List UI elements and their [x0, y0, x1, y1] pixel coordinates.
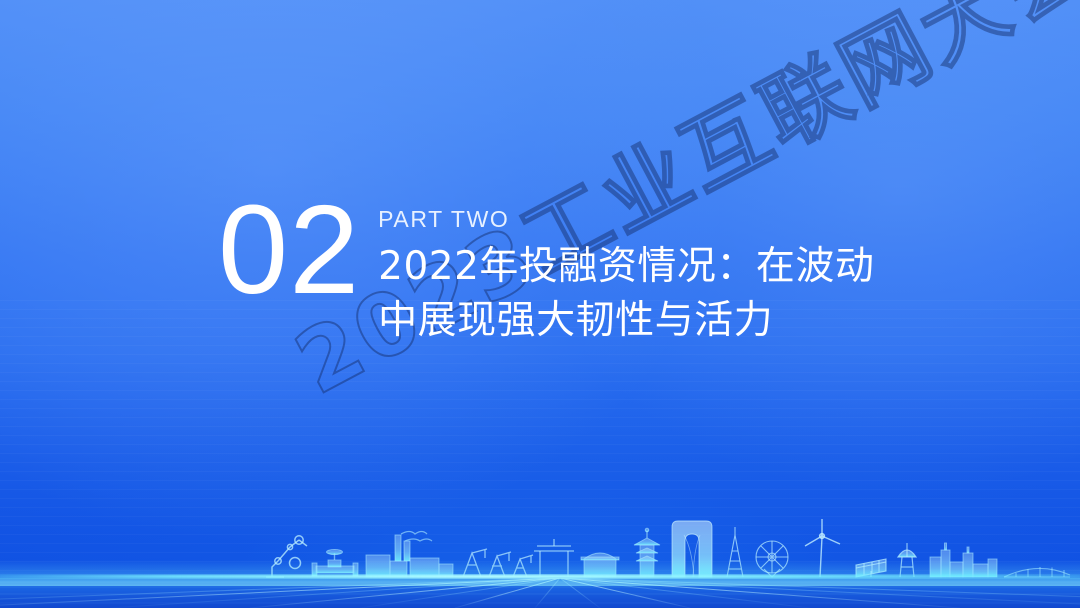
page-title-line-1: 2022年投融资情况：在波动	[378, 240, 874, 294]
perspective-ground-plane	[0, 578, 1080, 608]
lattice-tower-icon	[727, 527, 743, 577]
robotic-arm-icon	[266, 536, 307, 577]
title-group: PART TWO 2022年投融资情况：在波动 中展现强大韧性与活力	[378, 196, 874, 348]
presentation-slide: 2023工业互联网大会 02 PART TWO 2022年投融资情况：在波动 中…	[0, 0, 1080, 608]
wind-turbine-icon	[805, 519, 840, 577]
oil-pumpjacks-icon	[463, 549, 533, 577]
pipe-valve-icon	[312, 549, 358, 576]
page-title-line-2: 中展现强大韧性与活力	[378, 294, 874, 348]
part-label: PART TWO	[378, 208, 874, 231]
horizon-line	[0, 575, 1080, 578]
arch-gate-icon	[534, 539, 574, 577]
arcade-building-icon	[581, 553, 619, 577]
ferris-wheel-icon	[756, 541, 788, 577]
city-skyline-illustration	[0, 517, 1080, 579]
factory-smokestacks-icon	[366, 532, 453, 578]
city-buildings-icon	[930, 543, 997, 577]
section-number: 02	[218, 196, 360, 304]
slide-headline: 02 PART TWO 2022年投融资情况：在波动 中展现强大韧性与活力	[218, 196, 874, 348]
water-tower-icon	[898, 543, 916, 577]
gate-of-the-orient-icon	[672, 521, 712, 577]
chinese-pagoda-icon	[634, 528, 660, 577]
